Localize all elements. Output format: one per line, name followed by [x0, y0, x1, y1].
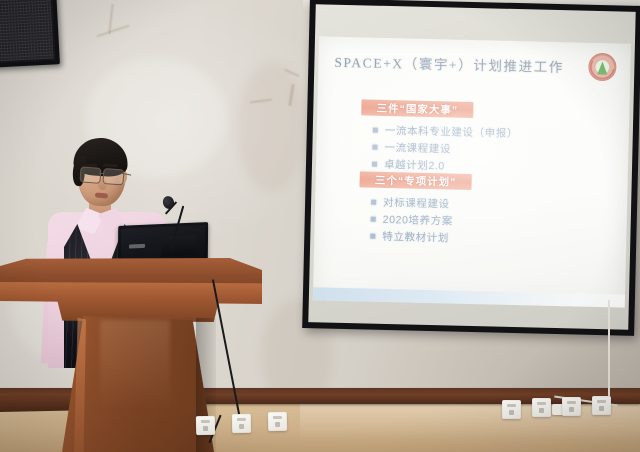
university-emblem-icon [588, 53, 617, 82]
bullet-text: 一流本科专业建设（申报） [385, 123, 519, 141]
section-band-2: 三个“专项计划” [359, 171, 471, 190]
bullet-square-icon [373, 128, 378, 133]
bullet-text: 一流课程建设 [384, 140, 451, 157]
wall-cable-vertical [608, 300, 610, 396]
wall-outlet [592, 396, 611, 415]
section-band-1: 三件“国家大事” [361, 99, 473, 118]
nose [98, 178, 107, 190]
bullet-text: 2020培养方案 [383, 212, 454, 229]
bullet-square-icon [370, 234, 375, 239]
slide-bullet: 卓越计划2.0 [372, 157, 445, 174]
panel-mesh [0, 0, 54, 61]
slide-bullet: 一流课程建设 [372, 140, 451, 157]
slide-bullet: 对标课程建设 [371, 195, 450, 212]
bullet-square-icon [371, 217, 376, 222]
wall-outlet [532, 398, 551, 417]
bullet-square-icon [372, 145, 377, 150]
wall-mounted-dark-panel [0, 0, 60, 68]
wall-outlet [562, 397, 581, 416]
bullet-text: 对标课程建设 [383, 195, 450, 212]
slide-bullet: 特立教材计划 [370, 229, 449, 246]
bullet-square-icon [371, 200, 376, 205]
laptop-logo [129, 244, 145, 249]
wall-stain [236, 62, 306, 192]
slide-bullet: 一流本科专业建设（申报） [373, 123, 519, 141]
bullet-text: 卓越计划2.0 [384, 157, 445, 173]
emblem-tree [597, 61, 607, 74]
projected-slide: SPACE+X（寰宇+）计划推进工作 三件“国家大事” 一流本科专业建设（申报）… [313, 36, 631, 307]
wall-outlet [268, 412, 287, 431]
glasses-bridge [99, 173, 104, 175]
slide-bullet: 2020培养方案 [371, 212, 454, 229]
slide-title: SPACE+X（寰宇+）计划推进工作 [334, 51, 564, 76]
wall-outlet [232, 414, 251, 433]
bullet-text: 特立教材计划 [382, 229, 449, 246]
presentation-photo-scene: SPACE+X（寰宇+）计划推进工作 三件“国家大事” 一流本科专业建设（申报）… [0, 0, 640, 452]
mouth [95, 192, 108, 198]
screen-surface: SPACE+X（寰宇+）计划推进工作 三件“国家大事” 一流本科专业建设（申报）… [308, 4, 635, 329]
wall-outlet [196, 416, 215, 435]
projection-screen: SPACE+X（寰宇+）计划推进工作 三件“国家大事” 一流本科专业建设（申报）… [302, 0, 640, 336]
bullet-square-icon [372, 162, 377, 167]
wall-outlet [502, 400, 521, 419]
podium-sheen [100, 320, 170, 450]
microphone-base [161, 235, 196, 257]
slide-footer-band [313, 287, 625, 307]
